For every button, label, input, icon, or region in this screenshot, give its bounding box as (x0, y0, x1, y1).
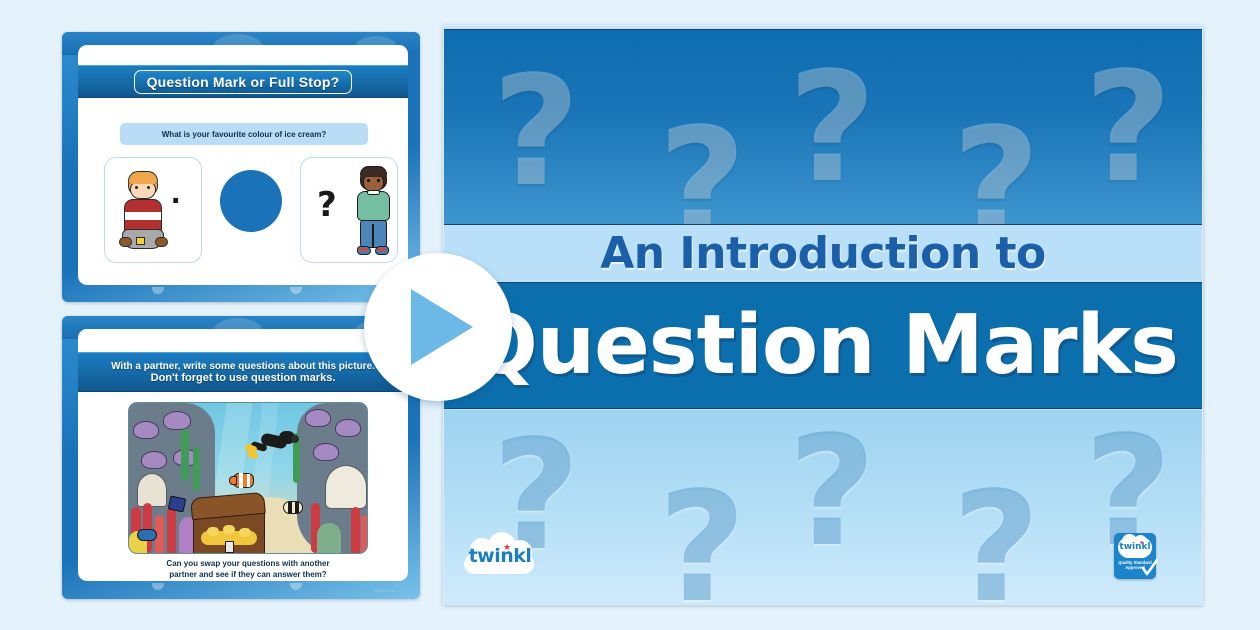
answer-card-left[interactable]: . (104, 157, 202, 263)
caption-line2: partner and see if they can answer them? (114, 570, 382, 581)
bottom-pattern-band: ? ? ? ? ? (444, 410, 1202, 603)
question-mark-icon: ? (492, 56, 580, 208)
badge-star-icon: ★ (1139, 540, 1143, 546)
question-mark-icon: ? (788, 52, 876, 204)
quality-standard-approved-badge: ★ twinkl Quality Standard Approved (1114, 533, 1156, 579)
slide-heading-banner: Question Mark or Full Stop? (78, 65, 408, 98)
thumbnail-slide-1[interactable]: Question Mark or Full Stop? What is your… (62, 32, 420, 302)
question-mark-icon: ? (658, 108, 746, 225)
slide-canvas: With a partner, write some questions abo… (78, 329, 408, 581)
question-mark-symbol: ? (317, 188, 337, 222)
slide-heading-banner: With a partner, write some questions abo… (78, 352, 408, 392)
boy-standing-icon (353, 166, 393, 258)
question-mark-icon: ? (952, 472, 1040, 603)
slide-watermark: twinkl.co.uk (374, 588, 395, 593)
slide-heading-text: Question Mark or Full Stop? (134, 70, 353, 94)
slide-heading-line1: With a partner, write some questions abo… (111, 361, 375, 372)
slide-title: Question Marks (444, 282, 1202, 409)
badge-wordmark: twinkl (1114, 542, 1156, 552)
caption-line1: Can you swap your questions with another (114, 559, 382, 570)
twinkl-logo: ★ twinkl (462, 532, 538, 578)
star-icon: ★ (503, 543, 511, 552)
question-mark-icon: ? (1084, 52, 1172, 204)
slide-footer-dot (152, 583, 164, 590)
slide-footer-dot (290, 583, 302, 590)
prompt-box: What is your favourite colour of ice cre… (120, 123, 368, 145)
question-mark-icon: ? (788, 416, 876, 568)
question-mark-icon: ? (658, 472, 746, 603)
play-button[interactable] (364, 253, 512, 401)
boy-sitting-icon (118, 171, 168, 255)
top-pattern-band: ? ? ? ? ? (444, 29, 1202, 225)
prompt-text: What is your favourite colour of ice cre… (162, 130, 326, 139)
thumbnail-slide-2[interactable]: With a partner, write some questions abo… (62, 316, 420, 599)
screenshot-root: Question Mark or Full Stop? What is your… (0, 0, 1260, 630)
play-triangle-icon (411, 289, 473, 365)
slide-subtitle: An Introduction to (444, 226, 1202, 281)
main-title-slide[interactable]: ? ? ? ? ? An Introduction to Question Ma… (443, 25, 1203, 605)
answer-card-right[interactable]: ? (300, 157, 398, 263)
slide-heading-line2: Don't forget to use question marks. (151, 372, 336, 384)
blue-circle-marker (220, 170, 282, 232)
slide-caption: Can you swap your questions with another… (114, 559, 382, 581)
question-mark-icon: ? (952, 108, 1040, 225)
slide-footer-dot (290, 287, 302, 294)
badge-tick-icon (1141, 559, 1158, 577)
twinkl-wordmark: twinkl (462, 545, 538, 567)
slide-footer-dot (152, 287, 164, 294)
underwater-scene-image (128, 402, 368, 554)
slide-canvas: Question Mark or Full Stop? What is your… (78, 45, 408, 285)
